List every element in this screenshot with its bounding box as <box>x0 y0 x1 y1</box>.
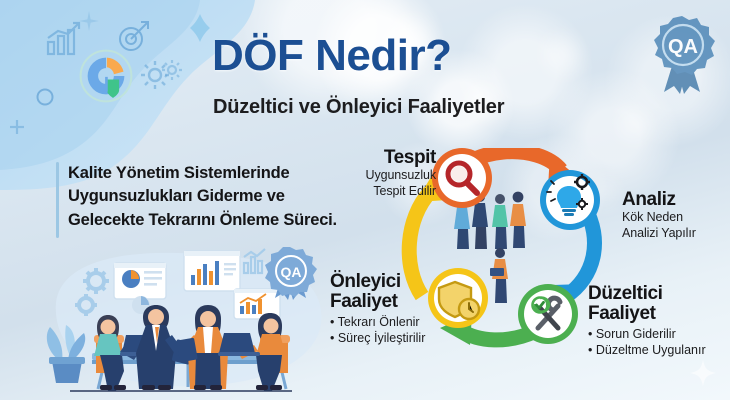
step-bullet: • Düzeltme Uygulanır <box>588 342 730 358</box>
step-title: Tespit <box>326 148 436 167</box>
step-title: Analiz <box>622 190 730 209</box>
step-label-onleyici: Önleyici Faaliyet • Tekrarı Önlenir • Sü… <box>330 272 458 346</box>
step-bullet: • Sorun Giderilir <box>588 326 730 342</box>
step-bullet: • Süreç İyileştirilir <box>330 330 458 346</box>
qa-rosette-icon: QA <box>646 14 718 96</box>
step-subtext: Kök Neden Analizi Yapılır <box>622 210 730 241</box>
step-label-tespit: Tespit Uygunsuzluk Tespit Edilir <box>326 148 436 199</box>
description-text: Kalite Yönetim Sistemlerinde Uygunsuzluk… <box>68 162 337 232</box>
step-bullet: • Tekrarı Önlenir <box>330 314 458 330</box>
gear-icon <box>160 58 184 82</box>
quality-donut-logo-icon <box>78 48 134 104</box>
step-subtext: Uygunsuzluk Tespit Edilir <box>326 168 436 199</box>
sparkle-icon <box>690 360 716 386</box>
page-subtitle: Düzeltici ve Önleyici Faaliyetler <box>213 96 633 119</box>
step-bullets: • Sorun Giderilir • Düzeltme Uygulanır <box>588 326 730 359</box>
description-block: Kalite Yönetim Sistemlerinde Uygunsuzluk… <box>56 158 347 236</box>
step-bullets: • Tekrarı Önlenir • Süreç İyileştirilir <box>330 314 458 347</box>
step-label-duzeltici: Düzeltici Faaliyet • Sorun Giderilir • D… <box>588 284 730 358</box>
qa-badge-text: QA <box>668 36 698 58</box>
step-title: Önleyici Faaliyet <box>330 272 458 312</box>
magnifier-icon <box>432 148 492 208</box>
sparkle-icon <box>78 10 100 32</box>
infographic-canvas: DÖF Nedir? Düzeltici ve Önleyici Faaliye… <box>0 0 730 400</box>
team-meeting-illustration: QA <box>38 243 343 393</box>
lightbulb-gear-icon <box>540 170 600 230</box>
page-title: DÖF Nedir? <box>212 33 612 79</box>
step-label-analiz: Analiz Kök Neden Analizi Yapılır <box>622 190 730 241</box>
step-title: Düzeltici Faaliyet <box>588 284 730 324</box>
sparkle-icon <box>190 14 210 42</box>
circle-outline-icon <box>36 88 54 106</box>
plus-icon <box>8 118 26 136</box>
svg-text:QA: QA <box>281 264 302 280</box>
description-accent-bar <box>56 162 59 238</box>
wrench-check-icon <box>518 284 578 344</box>
